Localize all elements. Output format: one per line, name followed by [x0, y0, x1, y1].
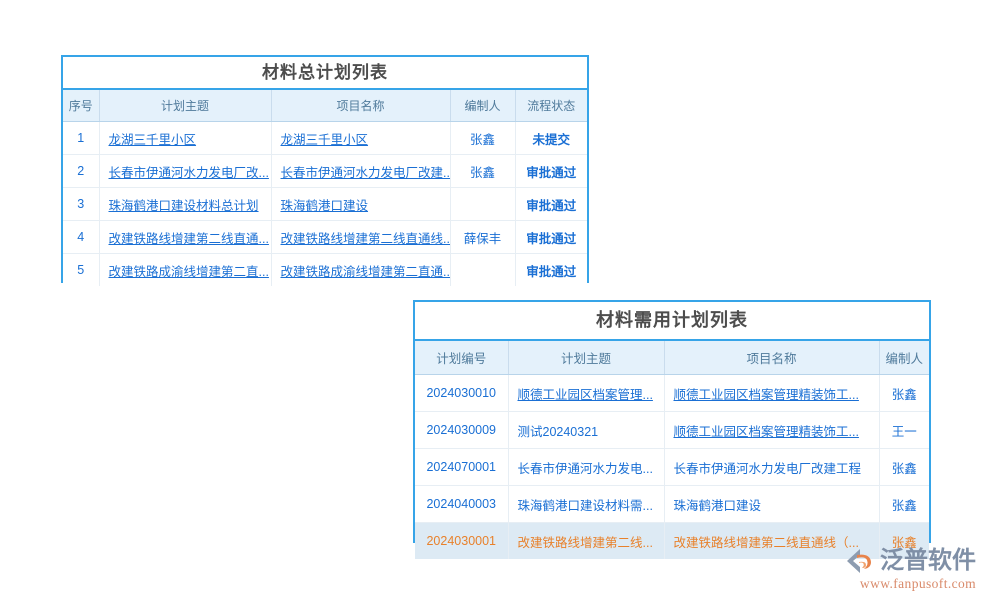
- subject-link[interactable]: 长春市伊通河水力发电厂改...: [109, 166, 269, 180]
- cell-author: 王一: [879, 412, 929, 449]
- table-row[interactable]: 2024040003 珠海鹤港口建设材料需... 珠海鹤港口建设 张鑫: [415, 486, 929, 523]
- subject-link[interactable]: 改建铁路线增建第二线直通...: [109, 232, 269, 246]
- column-header-author[interactable]: 编制人: [450, 89, 515, 122]
- cell-project[interactable]: 珠海鹤港口建设: [271, 188, 450, 221]
- cell-seq: 1: [63, 122, 99, 155]
- table-header-row: 计划编号 计划主题 项目名称 编制人: [415, 340, 929, 375]
- cell-author: 张鑫: [879, 486, 929, 523]
- table-row[interactable]: 2024030010 顺德工业园区档案管理... 顺德工业园区档案管理精装饰工.…: [415, 375, 929, 412]
- column-header-project[interactable]: 项目名称: [271, 89, 450, 122]
- cell-project[interactable]: 顺德工业园区档案管理精装饰工...: [664, 412, 879, 449]
- table-row[interactable]: 1 龙湖三千里小区 龙湖三千里小区 张鑫 未提交: [63, 122, 587, 155]
- cell-code[interactable]: 2024030010: [415, 375, 508, 412]
- cell-project[interactable]: 顺德工业园区档案管理精装饰工...: [664, 375, 879, 412]
- cell-author: [450, 254, 515, 287]
- subject-link[interactable]: 珠海鹤港口建设材料需...: [518, 499, 653, 513]
- cell-subject[interactable]: 珠海鹤港口建设材料需...: [508, 486, 664, 523]
- column-header-code[interactable]: 计划编号: [415, 340, 508, 375]
- subject-link[interactable]: 长春市伊通河水力发电...: [518, 462, 653, 476]
- cell-project[interactable]: 改建铁路成渝线增建第二直通...: [271, 254, 450, 287]
- subject-link[interactable]: 顺德工业园区档案管理...: [518, 388, 653, 402]
- table-row[interactable]: 2024070001 长春市伊通河水力发电... 长春市伊通河水力发电厂改建工程…: [415, 449, 929, 486]
- brand-row: 泛普软件: [844, 544, 992, 577]
- subject-link[interactable]: 改建铁路线增建第二线...: [518, 536, 653, 550]
- fanpu-logo-icon: [844, 546, 878, 576]
- cell-subject[interactable]: 改建铁路线增建第二线...: [508, 523, 664, 560]
- cell-project[interactable]: 改建铁路线增建第二线直通线...: [271, 221, 450, 254]
- column-header-author[interactable]: 编制人: [879, 340, 929, 375]
- subject-link[interactable]: 改建铁路成渝线增建第二直...: [109, 265, 269, 279]
- project-link[interactable]: 改建铁路成渝线增建第二直通...: [281, 265, 451, 279]
- table-header-row: 序号 计划主题 项目名称 编制人 流程状态: [63, 89, 587, 122]
- brand-name: 泛普软件: [880, 546, 976, 576]
- table-row[interactable]: 3 珠海鹤港口建设材料总计划 珠海鹤港口建设 审批通过: [63, 188, 587, 221]
- cell-code[interactable]: 2024070001: [415, 449, 508, 486]
- material-demand-plan-title: 材料需用计划列表: [415, 302, 929, 339]
- project-link[interactable]: 顺德工业园区档案管理精装饰工...: [674, 425, 859, 439]
- column-header-project[interactable]: 项目名称: [664, 340, 879, 375]
- cell-seq: 3: [63, 188, 99, 221]
- cell-subject[interactable]: 龙湖三千里小区: [99, 122, 271, 155]
- column-header-status[interactable]: 流程状态: [515, 89, 587, 122]
- cell-subject[interactable]: 改建铁路成渝线增建第二直...: [99, 254, 271, 287]
- cell-status: 审批通过: [515, 155, 587, 188]
- project-link[interactable]: 改建铁路线增建第二线直通线...: [281, 232, 451, 246]
- subject-link[interactable]: 龙湖三千里小区: [109, 133, 197, 147]
- cell-subject[interactable]: 改建铁路线增建第二线直通...: [99, 221, 271, 254]
- project-link[interactable]: 长春市伊通河水力发电厂改建工程: [674, 462, 862, 476]
- column-header-subject[interactable]: 计划主题: [508, 340, 664, 375]
- cell-subject[interactable]: 长春市伊通河水力发电...: [508, 449, 664, 486]
- cell-author: 张鑫: [879, 375, 929, 412]
- cell-status: 审批通过: [515, 254, 587, 287]
- table-row[interactable]: 4 改建铁路线增建第二线直通... 改建铁路线增建第二线直通线... 薛保丰 审…: [63, 221, 587, 254]
- project-link[interactable]: 改建铁路线增建第二线直通线（...: [674, 536, 859, 550]
- table-row[interactable]: 2 长春市伊通河水力发电厂改... 长春市伊通河水力发电厂改建... 张鑫 审批…: [63, 155, 587, 188]
- cell-subject[interactable]: 长春市伊通河水力发电厂改...: [99, 155, 271, 188]
- cell-subject[interactable]: 测试20240321: [508, 412, 664, 449]
- subject-link[interactable]: 测试20240321: [518, 425, 599, 439]
- cell-project[interactable]: 长春市伊通河水力发电厂改建工程: [664, 449, 879, 486]
- cell-seq: 2: [63, 155, 99, 188]
- column-header-subject[interactable]: 计划主题: [99, 89, 271, 122]
- cell-seq: 5: [63, 254, 99, 287]
- cell-code[interactable]: 2024030001: [415, 523, 508, 560]
- project-link[interactable]: 长春市伊通河水力发电厂改建...: [281, 166, 451, 180]
- brand-url: www.fanpusoft.com: [844, 576, 992, 592]
- material-total-plan-table: 序号 计划主题 项目名称 编制人 流程状态 1 龙湖三千里小区 龙湖三千里小区 …: [63, 88, 587, 286]
- material-demand-plan-panel: 材料需用计划列表 计划编号 计划主题 项目名称 编制人 2024030010 顺…: [413, 300, 931, 543]
- cell-author: 张鑫: [450, 155, 515, 188]
- cell-project[interactable]: 长春市伊通河水力发电厂改建...: [271, 155, 450, 188]
- cell-project[interactable]: 珠海鹤港口建设: [664, 486, 879, 523]
- cell-code[interactable]: 2024040003: [415, 486, 508, 523]
- project-link[interactable]: 龙湖三千里小区: [281, 133, 369, 147]
- table-row[interactable]: 5 改建铁路成渝线增建第二直... 改建铁路成渝线增建第二直通... 审批通过: [63, 254, 587, 287]
- material-total-plan-panel: 材料总计划列表 序号 计划主题 项目名称 编制人 流程状态 1 龙湖三千里小区 …: [61, 55, 589, 283]
- cell-subject[interactable]: 珠海鹤港口建设材料总计划: [99, 188, 271, 221]
- cell-code[interactable]: 2024030009: [415, 412, 508, 449]
- table-row[interactable]: 2024030009 测试20240321 顺德工业园区档案管理精装饰工... …: [415, 412, 929, 449]
- cell-project[interactable]: 龙湖三千里小区: [271, 122, 450, 155]
- cell-status: 审批通过: [515, 221, 587, 254]
- cell-subject[interactable]: 顺德工业园区档案管理...: [508, 375, 664, 412]
- project-link[interactable]: 顺德工业园区档案管理精装饰工...: [674, 388, 859, 402]
- project-link[interactable]: 珠海鹤港口建设: [674, 499, 762, 513]
- cell-status: 审批通过: [515, 188, 587, 221]
- brand-watermark: 泛普软件 www.fanpusoft.com: [844, 544, 992, 594]
- material-total-plan-title: 材料总计划列表: [63, 57, 587, 88]
- column-header-seq[interactable]: 序号: [63, 89, 99, 122]
- cell-seq: 4: [63, 221, 99, 254]
- cell-status: 未提交: [515, 122, 587, 155]
- cell-author: 薛保丰: [450, 221, 515, 254]
- project-link[interactable]: 珠海鹤港口建设: [281, 199, 369, 213]
- cell-author: 张鑫: [879, 449, 929, 486]
- cell-author: 张鑫: [450, 122, 515, 155]
- cell-author: [450, 188, 515, 221]
- material-demand-plan-table: 计划编号 计划主题 项目名称 编制人 2024030010 顺德工业园区档案管理…: [415, 339, 929, 559]
- subject-link[interactable]: 珠海鹤港口建设材料总计划: [109, 199, 259, 213]
